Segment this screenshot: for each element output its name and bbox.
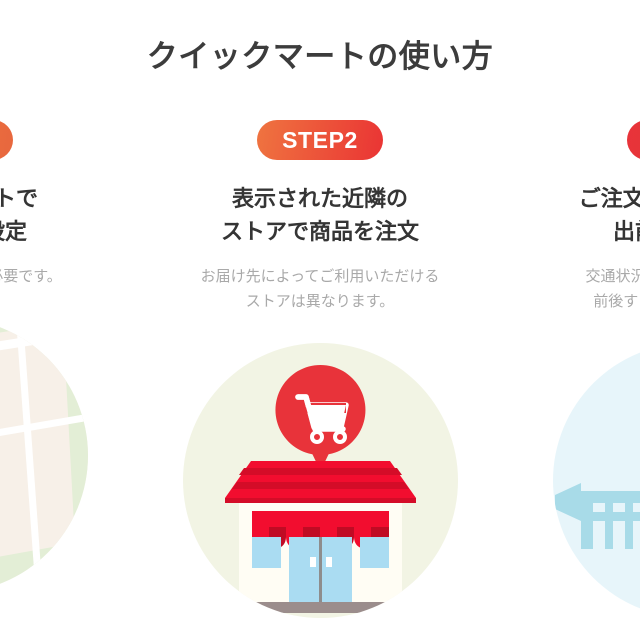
step-headline-3: ご注文から最短30分で 出前館がお届け	[579, 182, 640, 248]
step-card-3: STEP3 ご注文から最短30分で 出前館がお届け 交通状況により、お届け時間が…	[530, 120, 640, 618]
building-silhouette	[555, 476, 640, 549]
storefront-icon	[183, 343, 458, 618]
step-headline-2-line-1: 表示された近隣の	[221, 182, 419, 215]
step-headline-2-line-2: ストアで商品を注文	[221, 215, 419, 248]
cart-pin-icon	[275, 365, 365, 471]
step-description-3: 交通状況により、お届け時間が 前後する場合がございます。	[585, 265, 640, 315]
step-illustration-2	[183, 343, 458, 618]
step-description-1-line-1: ご利用には会員登録が必要です。	[0, 265, 62, 290]
step-description-2: お届け先によってご利用いただける ストアは異なります。	[201, 265, 440, 315]
map-circle-background	[0, 318, 88, 593]
steps-row: STEP1 クイックマートで お届け先を設定 ご利用には会員登録が必要です。	[0, 120, 640, 618]
step-headline-1-line-2: お届け先を設定	[0, 215, 38, 248]
delivery-circle-background	[553, 343, 640, 618]
step-description-2-line-2: ストアは異なります。	[201, 290, 440, 315]
map-pin-icon	[0, 318, 88, 593]
step-headline-2: 表示された近隣の ストアで商品を注文	[221, 182, 419, 248]
step-headline-1: クイックマートで お届け先を設定	[0, 182, 38, 248]
step-illustration-3	[553, 343, 640, 618]
step-badge-1: STEP1	[0, 120, 13, 160]
delivery-person-icon	[553, 343, 640, 618]
step-description-1: ご利用には会員登録が必要です。	[0, 265, 62, 290]
step-headline-3-line-1: ご注文から最短30分で	[579, 182, 640, 215]
step-illustration-1	[0, 318, 88, 593]
step-description-3-line-2: 前後する場合がございます。	[585, 290, 640, 315]
step-headline-1-line-1: クイックマートで	[0, 182, 38, 215]
step-headline-3-line-2: 出前館がお届け	[579, 215, 640, 248]
how-to-use-section: クイックマートの使い方 STEP1 クイックマートで お届け先を設定 ご利用には…	[0, 0, 640, 628]
step-badge-3: STEP3	[627, 120, 640, 160]
step-card-1: STEP1 クイックマートで お届け先を設定 ご利用には会員登録が必要です。	[0, 120, 110, 593]
step-description-3-line-1: 交通状況により、お届け時間が	[585, 265, 640, 290]
page-title: クイックマートの使い方	[0, 38, 640, 75]
step-description-2-line-1: お届け先によってご利用いただける	[201, 265, 440, 290]
store-circle-background	[183, 343, 458, 618]
step-badge-2: STEP2	[257, 120, 383, 160]
step-card-2: STEP2 表示された近隣の ストアで商品を注文 お届け先によってご利用いただけ…	[160, 120, 480, 618]
